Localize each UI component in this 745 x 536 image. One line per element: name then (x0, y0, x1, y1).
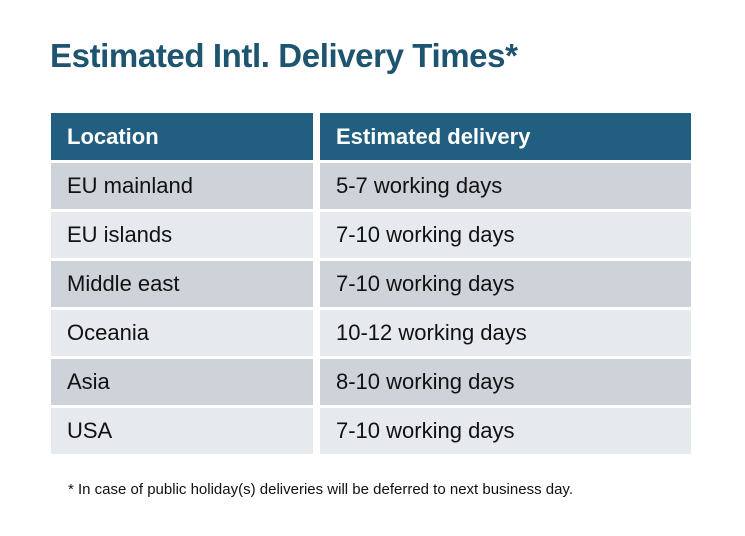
cell-location: Asia (51, 359, 313, 405)
column-header-estimated-delivery: Estimated delivery (320, 113, 691, 160)
estimated-delivery-table: Location Estimated delivery EU mainland … (51, 113, 691, 454)
cell-estimated-delivery: 10-12 working days (320, 310, 691, 356)
delivery-times-page: Estimated Intl. Delivery Times* Location… (0, 0, 745, 536)
table-row: Middle east 7-10 working days (51, 261, 691, 307)
cell-estimated-delivery: 7-10 working days (320, 212, 691, 258)
cell-location: Middle east (51, 261, 313, 307)
cell-location: EU mainland (51, 163, 313, 209)
table-row: USA 7-10 working days (51, 408, 691, 454)
page-title: Estimated Intl. Delivery Times* (50, 36, 518, 76)
cell-estimated-delivery: 5-7 working days (320, 163, 691, 209)
table-header-row: Location Estimated delivery (51, 113, 691, 160)
table-row: EU islands 7-10 working days (51, 212, 691, 258)
table-row: EU mainland 5-7 working days (51, 163, 691, 209)
cell-estimated-delivery: 7-10 working days (320, 408, 691, 454)
column-header-location: Location (51, 113, 313, 160)
table-row: Asia 8-10 working days (51, 359, 691, 405)
cell-location: Oceania (51, 310, 313, 356)
cell-estimated-delivery: 8-10 working days (320, 359, 691, 405)
table-row: Oceania 10-12 working days (51, 310, 691, 356)
cell-location: USA (51, 408, 313, 454)
cell-estimated-delivery: 7-10 working days (320, 261, 691, 307)
cell-location: EU islands (51, 212, 313, 258)
footnote-text: * In case of public holiday(s) deliverie… (68, 481, 573, 498)
